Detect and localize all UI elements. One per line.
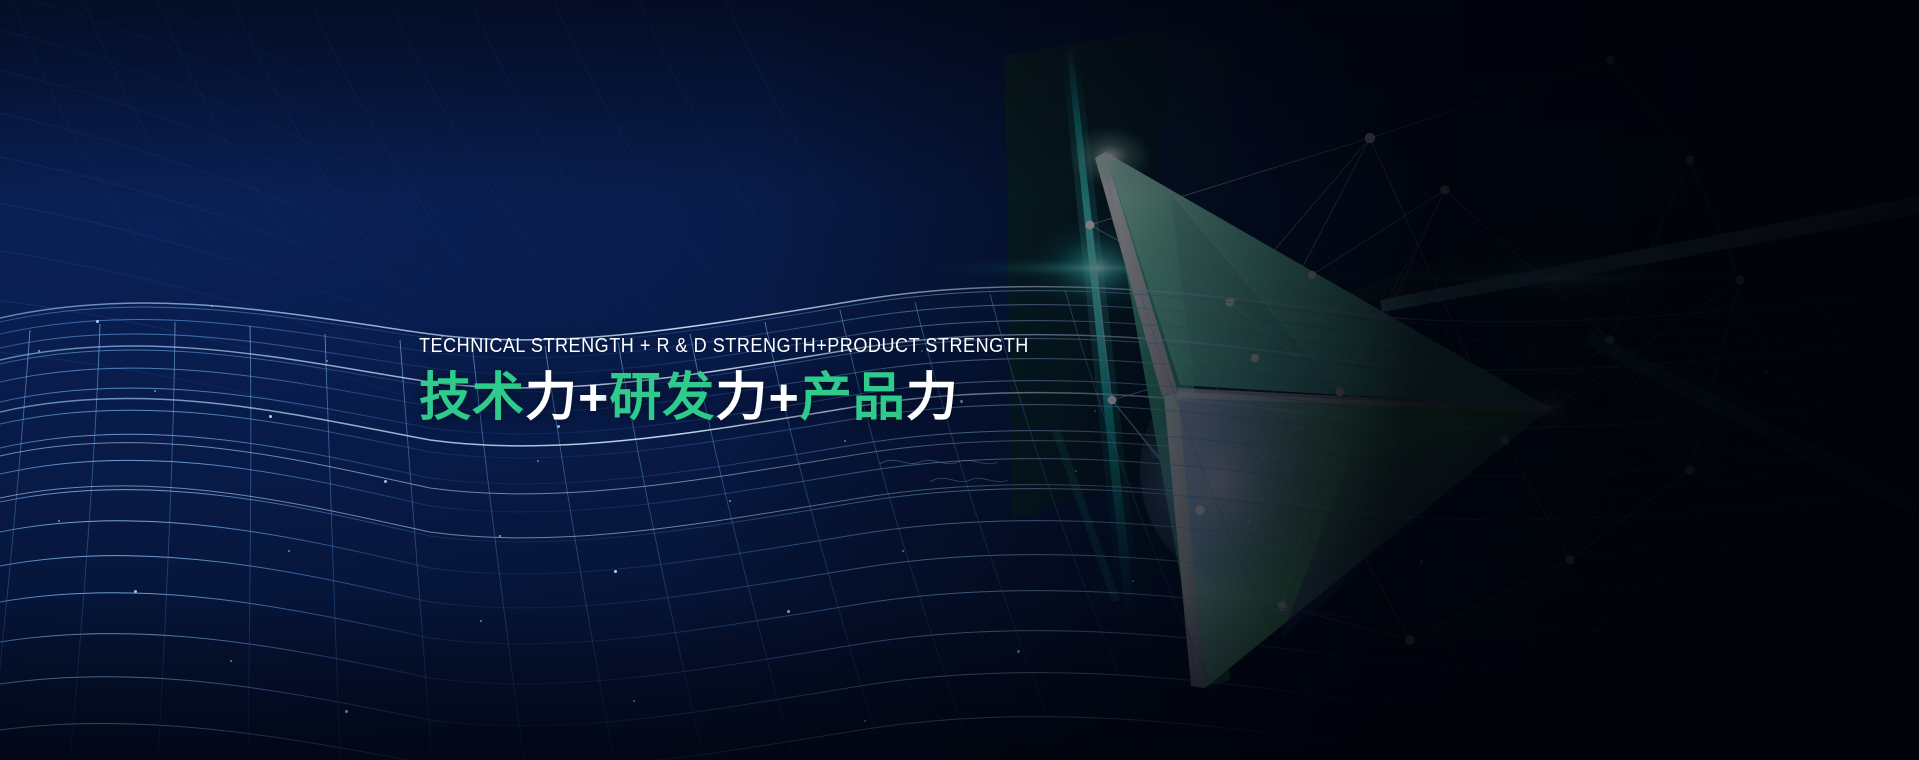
headline-segment-7: 产品 [800, 369, 906, 427]
headline-segment-4: 研发 [609, 369, 715, 427]
eyebrow-text: TECHNICAL STRENGTH + R & D STRENGTH+PROD… [419, 336, 982, 357]
page-title: 技术力+研发力+产品力 [419, 371, 1059, 426]
headline-segment-1: 技术 [419, 369, 525, 427]
hero-banner: TECHNICAL STRENGTH + R & D STRENGTH+PROD… [0, 0, 1919, 760]
headline-segment-3: + [578, 369, 609, 427]
headline-text-block: TECHNICAL STRENGTH + R & D STRENGTH+PROD… [419, 336, 1059, 426]
headline-segment-5: 力 [715, 369, 768, 427]
headline-segment-6: + [768, 369, 799, 427]
headline-segment-2: 力 [525, 369, 578, 427]
headline-segment-8: 力 [906, 369, 959, 427]
